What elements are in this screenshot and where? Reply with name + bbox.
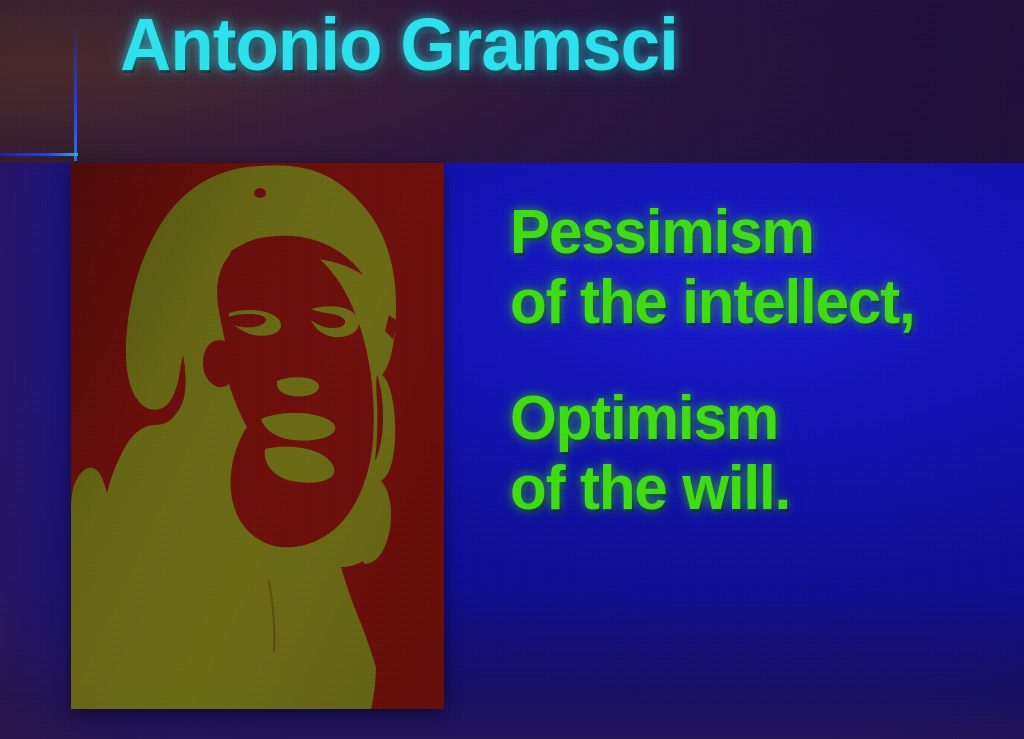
projection-edge-line-horizontal — [0, 153, 78, 156]
portrait-hair-fleck — [254, 188, 266, 198]
quote-line: Optimism — [510, 384, 1014, 454]
slide-surface: Antonio Gramsci — [0, 0, 1024, 739]
slide-title: Antonio Gramsci — [120, 8, 678, 82]
portrait-stencil-graphic — [71, 163, 444, 709]
quote-stanza-pessimism: Pessimism of the intellect, — [510, 198, 1024, 338]
quote-line: of the intellect, — [510, 268, 1014, 338]
quote-block: Pessimism of the intellect, Optimism of … — [510, 198, 1024, 570]
projected-slide-photo: Antonio Gramsci — [0, 0, 1024, 739]
projection-edge-line-vertical — [74, 28, 77, 161]
gramsci-portrait-image — [71, 163, 444, 709]
quote-line: of the will. — [510, 454, 1014, 524]
quote-line: Pessimism — [510, 198, 1014, 268]
quote-stanza-optimism: Optimism of the will. — [510, 384, 1024, 524]
